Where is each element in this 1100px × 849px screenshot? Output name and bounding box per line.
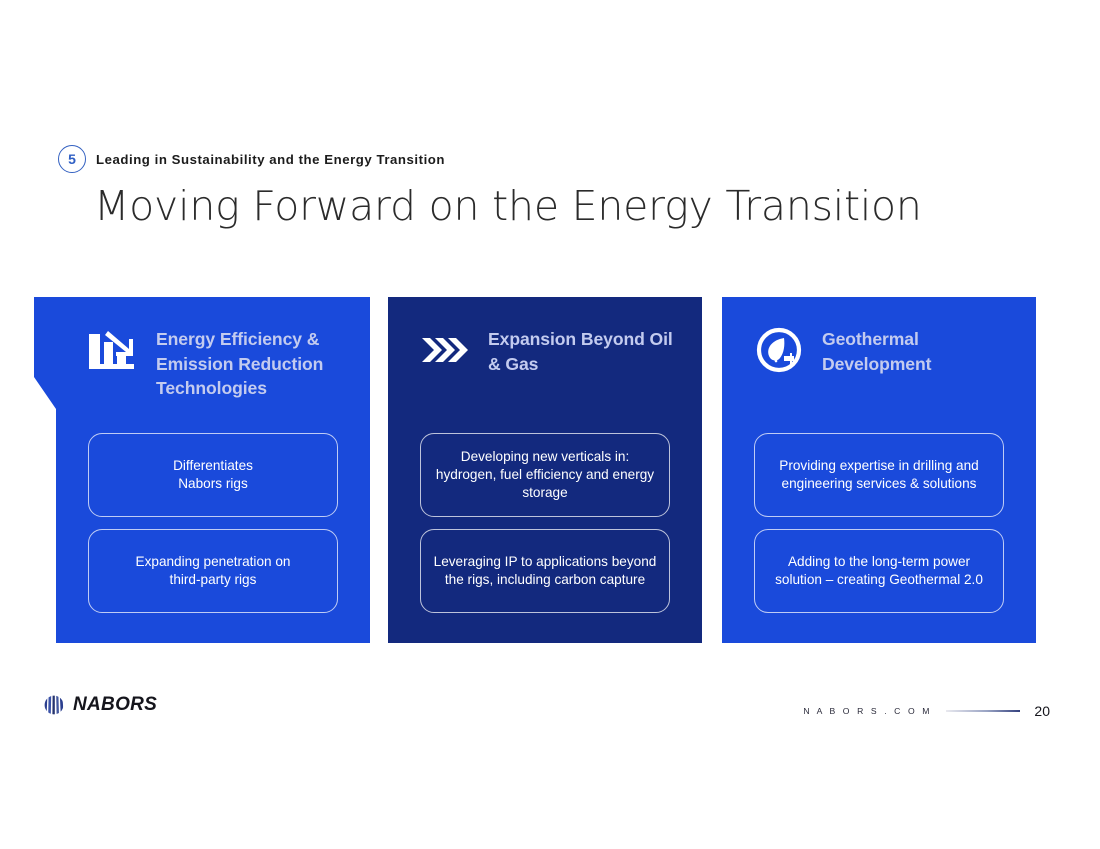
footer-right: N A B O R S . C O M 20 (803, 703, 1050, 719)
card-expansion-beyond-oil-gas-point-1: Developing new verticals in: hydrogen, f… (420, 433, 670, 517)
declining-bar-chart-icon (88, 325, 138, 375)
section-kicker-label: Leading in Sustainability and the Energy… (96, 152, 445, 167)
card-geothermal-development-header: Geothermal Development (754, 325, 1018, 376)
card-energy-efficiency: Energy Efficiency & Emission Reduction T… (34, 297, 370, 643)
card-geothermal-development: Geothermal Development Providing experti… (722, 297, 1036, 643)
section-kicker: 5 Leading in Sustainability and the Ener… (58, 145, 445, 173)
card-energy-efficiency-point-2: Expanding penetration on third-party rig… (88, 529, 338, 613)
brand-logo: NABORS (44, 694, 157, 716)
footer-website-url: N A B O R S . C O M (803, 706, 932, 716)
brand-logo-text: NABORS (73, 694, 157, 716)
card-expansion-beyond-oil-gas: Expansion Beyond Oil & Gas Developing ne… (388, 297, 702, 643)
page-number: 20 (1032, 703, 1050, 719)
card-geothermal-development-point-2: Adding to the long-term power solution –… (754, 529, 1004, 613)
card-expansion-beyond-oil-gas-inner: Expansion Beyond Oil & Gas Developing ne… (388, 297, 702, 643)
card-geothermal-development-title: Geothermal Development (822, 325, 1018, 376)
triple-chevron-icon (420, 325, 470, 375)
card-energy-efficiency-point-1: Differentiates Nabors rigs (88, 433, 338, 517)
card-geothermal-development-inner: Geothermal Development Providing experti… (722, 297, 1036, 643)
card-expansion-beyond-oil-gas-title: Expansion Beyond Oil & Gas (488, 325, 684, 376)
section-number-badge: 5 (58, 145, 86, 173)
slide-canvas: 5 Leading in Sustainability and the Ener… (0, 0, 1100, 849)
card-energy-efficiency-inner: Energy Efficiency & Emission Reduction T… (56, 297, 370, 643)
nabors-mark-icon (44, 695, 64, 715)
card-energy-efficiency-title: Energy Efficiency & Emission Reduction T… (156, 325, 352, 401)
card-geothermal-development-point-1: Providing expertise in drilling and engi… (754, 433, 1004, 517)
footer-divider-rule (946, 710, 1020, 711)
card-energy-efficiency-header: Energy Efficiency & Emission Reduction T… (88, 325, 352, 401)
page-title: Moving Forward on the Energy Transition (94, 182, 922, 230)
card-expansion-beyond-oil-gas-point-2: Leveraging IP to applications beyond the… (420, 529, 670, 613)
card-expansion-beyond-oil-gas-header: Expansion Beyond Oil & Gas (420, 325, 684, 376)
leaf-plug-circle-icon (754, 325, 804, 375)
